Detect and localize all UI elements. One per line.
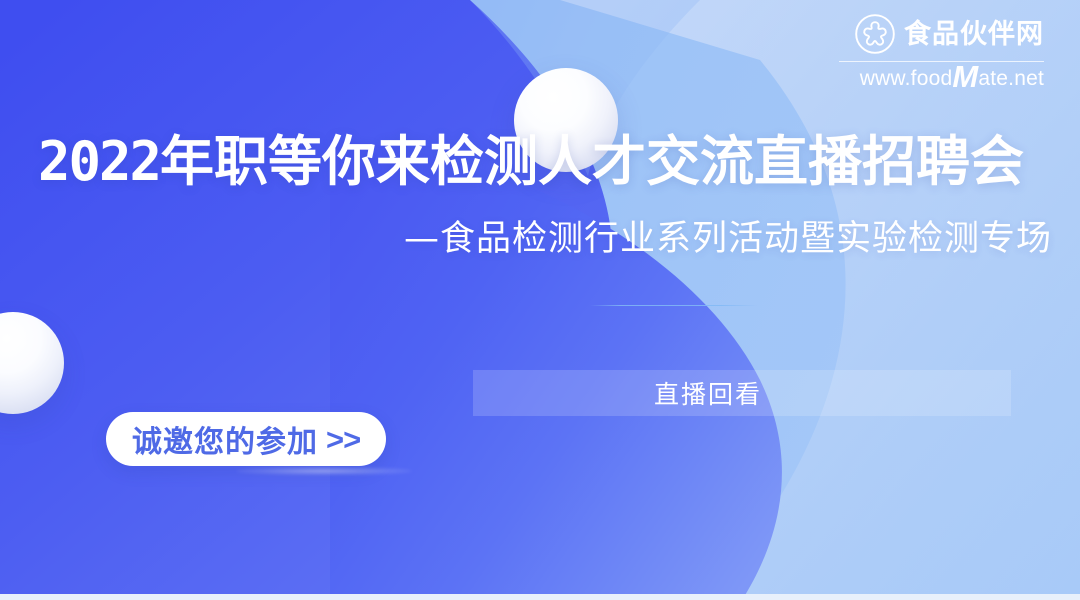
brand-url-prefix: www.food	[860, 67, 953, 90]
invite-button[interactable]: 诚邀您的参加 >>	[106, 412, 386, 466]
page-subtitle: —食品检测行业系列活动暨实验检测专场	[404, 218, 1052, 260]
brand-url-suffix: ate.net	[978, 67, 1044, 90]
live-replay-bar[interactable]: 直播回看	[473, 370, 1011, 416]
brand-name-cn: 食品伙伴网	[904, 21, 1044, 48]
logo-divider	[839, 61, 1044, 62]
brand-url-accent-m: M	[952, 59, 978, 94]
decorative-hairline	[590, 305, 758, 306]
live-replay-label: 直播回看	[654, 375, 762, 411]
invite-button-label: 诚邀您的参加	[132, 417, 318, 461]
page-title: 2022年职等你来检测人才交流直播招聘会	[38, 135, 1048, 189]
foodmate-flower-logo-icon	[854, 13, 896, 55]
page-title-year: 2022	[38, 130, 160, 193]
brand-logo[interactable]: 食品伙伴网 www.foodMate.net	[839, 10, 1044, 91]
brand-logo-row: 食品伙伴网	[839, 10, 1044, 58]
live-recruitment-banner: 食品伙伴网 www.foodMate.net 2022年职等你来检测人才交流直播…	[0, 0, 1080, 600]
double-chevron-right-icon: >>	[326, 424, 360, 455]
bottom-strip	[0, 594, 1080, 600]
page-title-rest: 年职等你来检测人才交流直播招聘会	[160, 130, 1024, 193]
invite-button-reflection	[236, 467, 412, 475]
brand-url[interactable]: www.foodMate.net	[839, 65, 1044, 91]
